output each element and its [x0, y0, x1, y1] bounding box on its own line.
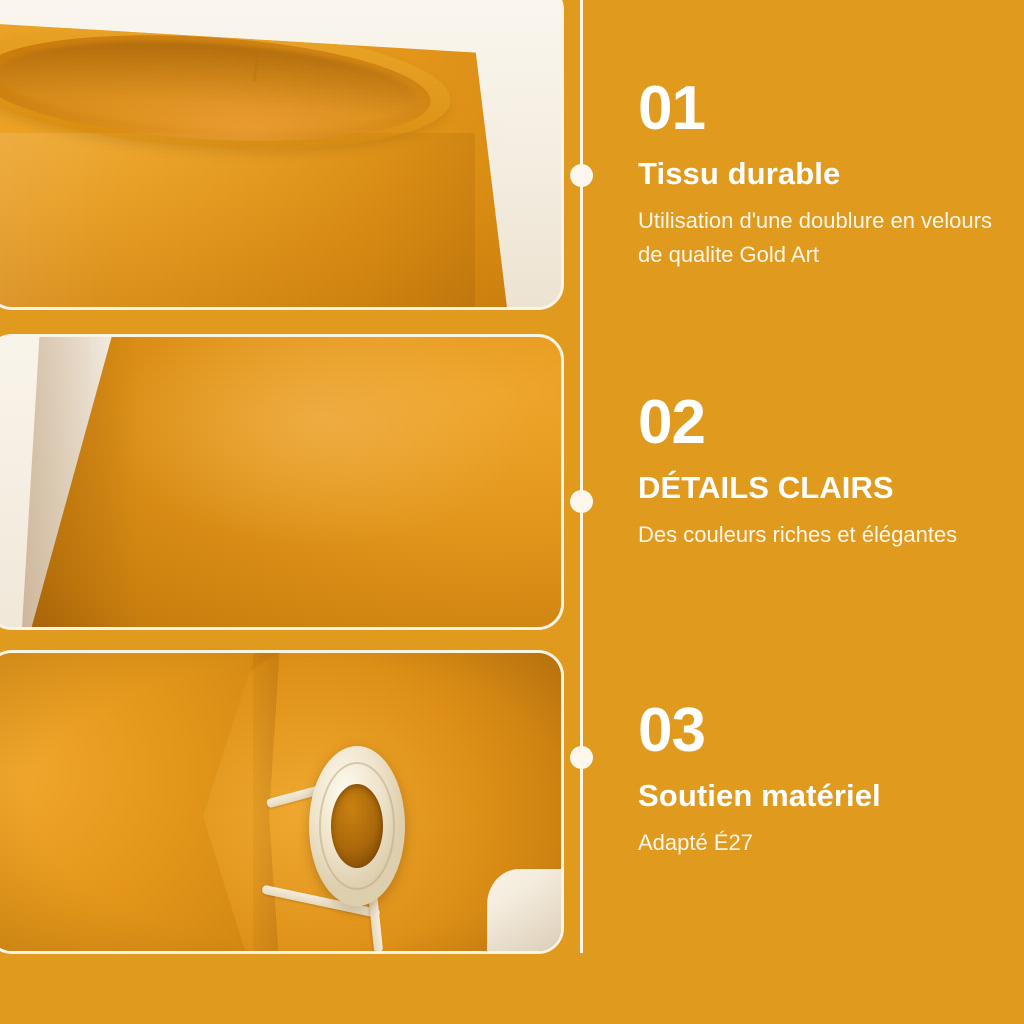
- interior-vignette: [0, 653, 561, 951]
- fabric-highlight: [109, 337, 529, 547]
- timeline-dot-3: [570, 746, 593, 769]
- gallery-panel-fitter-ring-interior[interactable]: [0, 650, 564, 954]
- fitter-ring-interior-image: [0, 653, 561, 951]
- lampshade-sheen: [0, 133, 475, 307]
- feature-step-1: 01 Tissu durable Utilisation d'une doubl…: [638, 78, 1010, 272]
- step-description: Utilisation d'une doublure en velours de…: [638, 204, 1010, 272]
- feature-step-3: 03 Soutien matériel Adapté É27: [638, 700, 1010, 860]
- product-image-gallery: [0, 0, 566, 1024]
- fabric-closeup-image: [0, 337, 561, 627]
- gallery-panel-fabric-closeup[interactable]: [0, 334, 564, 630]
- step-title: DÉTAILS CLAIRS: [638, 470, 1010, 506]
- timeline-vertical-line: [580, 0, 583, 953]
- step-title: Soutien matériel: [638, 778, 1010, 814]
- step-number: 03: [638, 700, 1010, 762]
- timeline-dot-2: [570, 490, 593, 513]
- product-feature-infographic: 01 Tissu durable Utilisation d'une doubl…: [0, 0, 1024, 1024]
- step-title: Tissu durable: [638, 156, 1010, 192]
- step-description: Adapté É27: [638, 826, 1010, 860]
- feature-step-2: 02 DÉTAILS CLAIRS Des couleurs riches et…: [638, 392, 1010, 552]
- lampshade-top-view-image: [0, 0, 561, 307]
- step-number: 01: [638, 78, 1010, 140]
- gallery-panel-lampshade-top-view[interactable]: [0, 0, 564, 310]
- timeline-dot-1: [570, 164, 593, 187]
- lampshade-body: [0, 13, 515, 307]
- step-description: Des couleurs riches et élégantes: [638, 518, 1010, 552]
- step-number: 02: [638, 392, 1010, 454]
